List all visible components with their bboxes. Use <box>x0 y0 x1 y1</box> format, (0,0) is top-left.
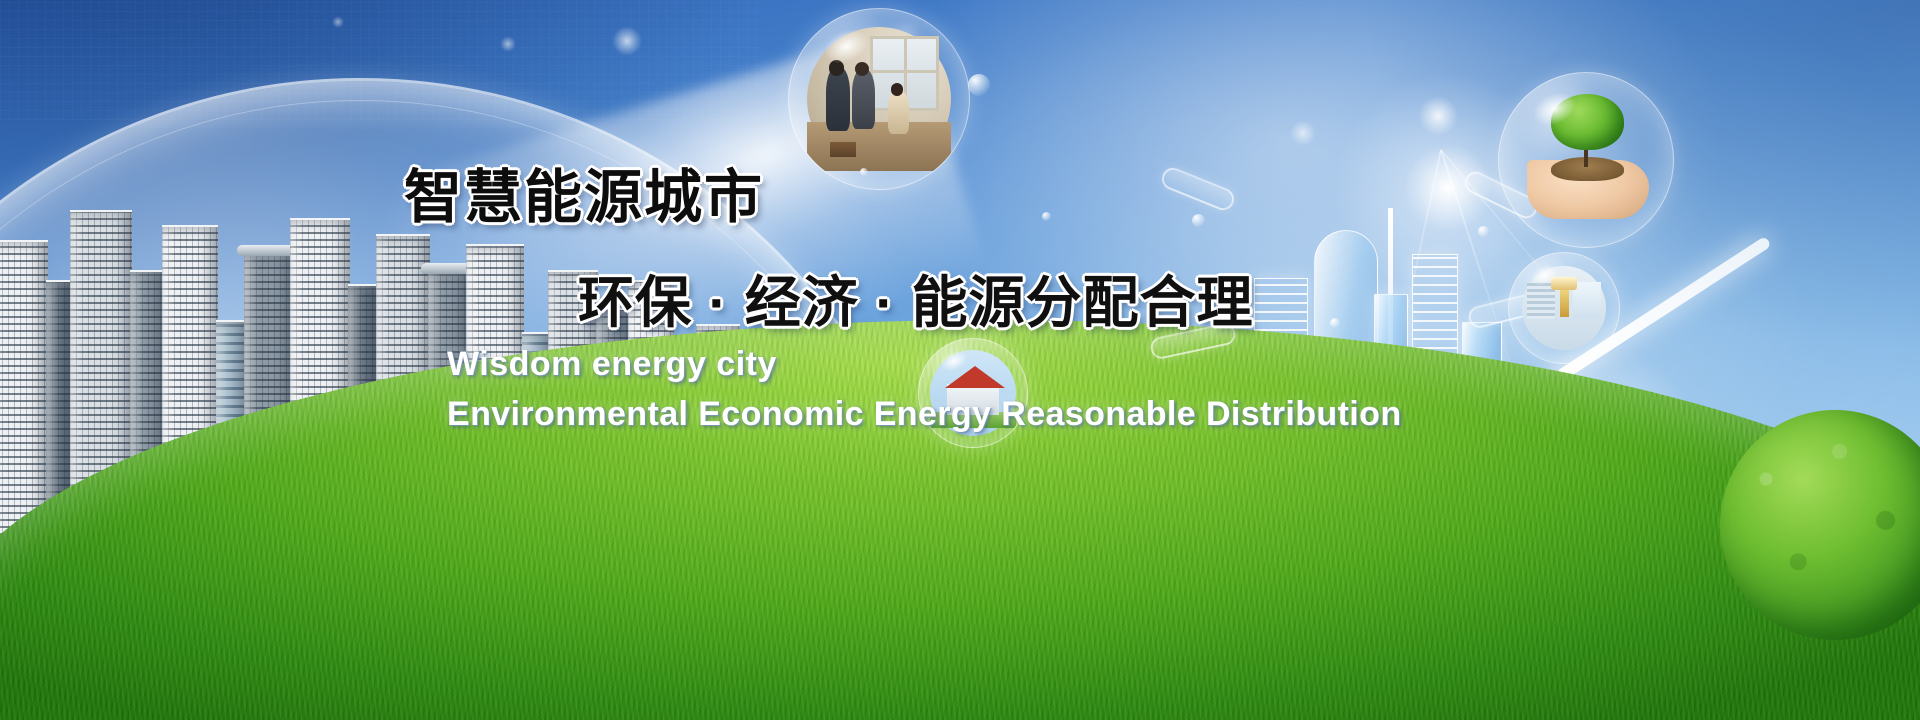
tagline-english-primary: Wisdom energy city <box>447 345 777 384</box>
tagline-english-secondary: Environmental Economic Energy Reasonable… <box>447 395 1402 434</box>
smart-energy-city-banner: 智慧能源城市 环保 · 经济 · 能源分配合理 Wisdom energy ci… <box>0 0 1920 720</box>
subheadline-chinese: 环保 · 经济 · 能源分配合理 <box>578 258 1254 339</box>
banner-copy: 智慧能源城市 环保 · 经济 · 能源分配合理 Wisdom energy ci… <box>0 0 1920 720</box>
headline-chinese: 智慧能源城市 <box>404 150 764 234</box>
